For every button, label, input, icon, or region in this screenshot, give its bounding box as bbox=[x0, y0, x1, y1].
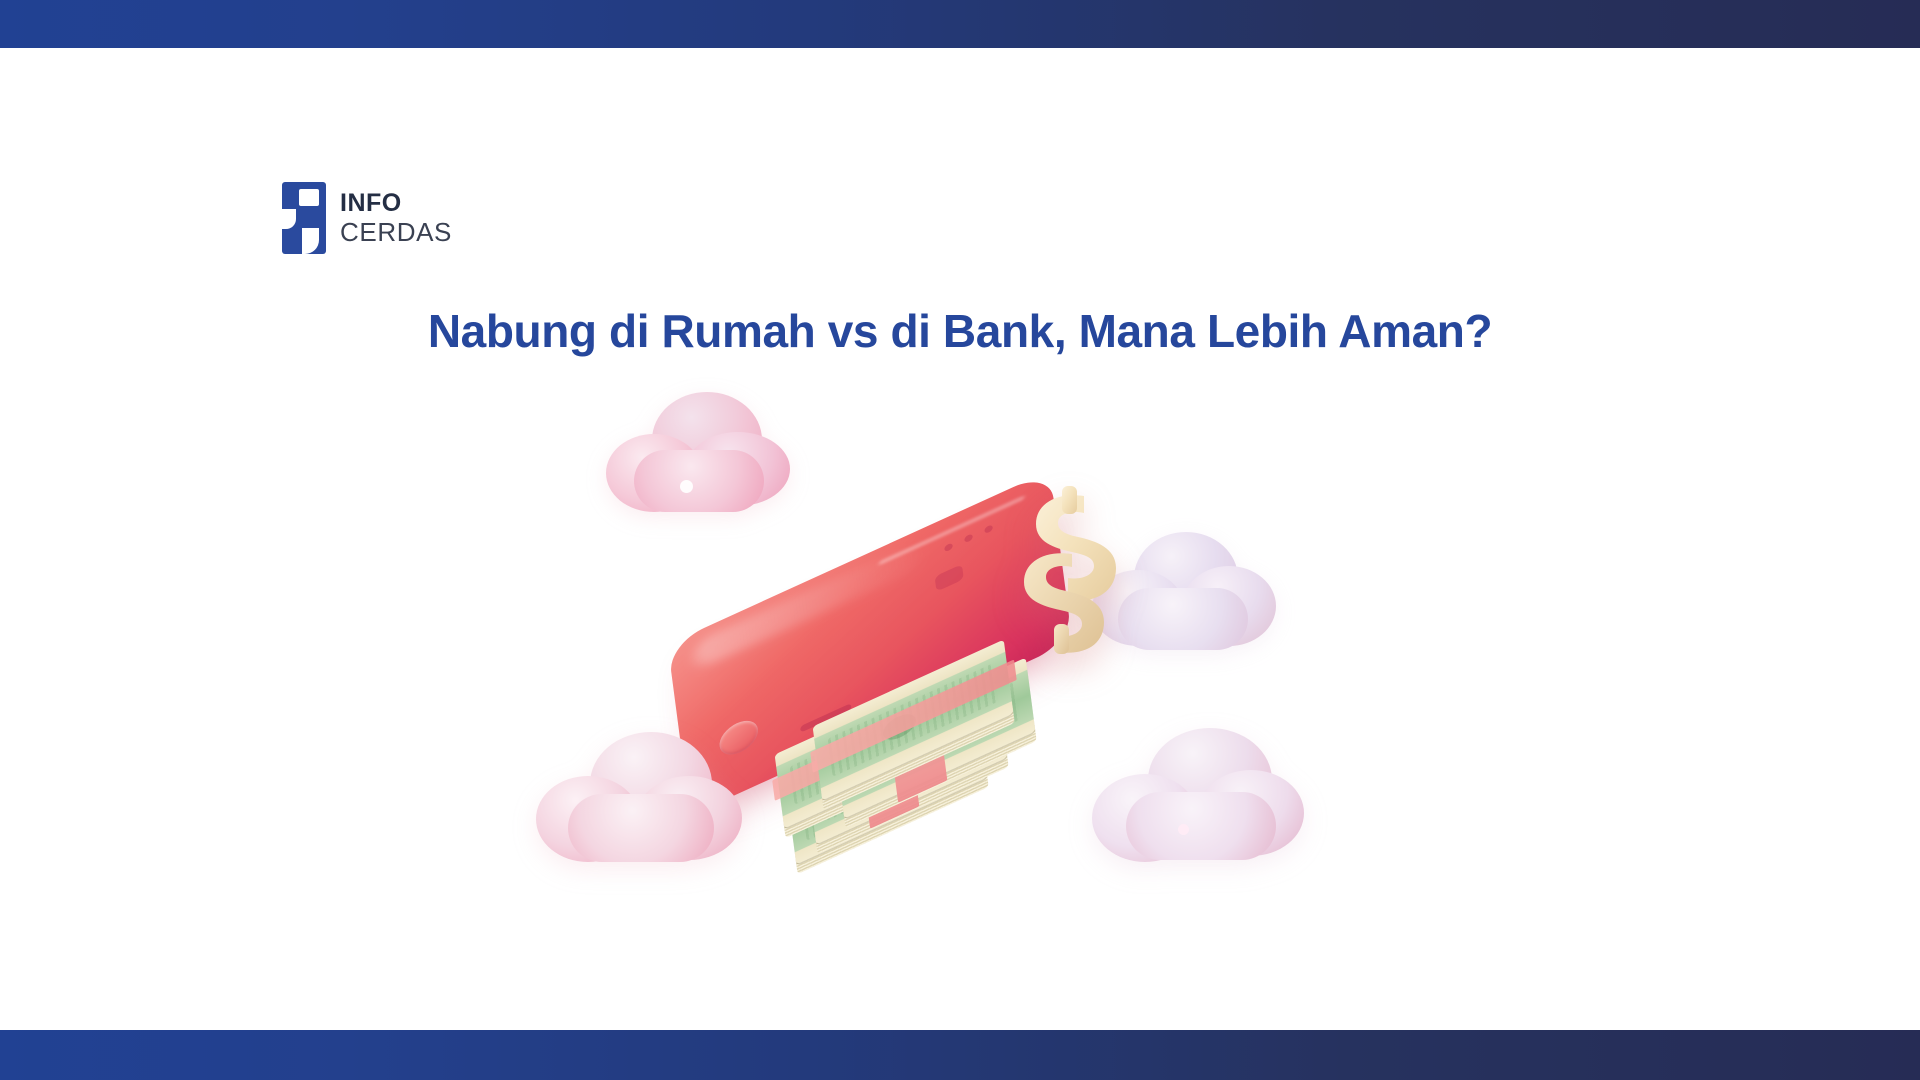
bottom-accent-bar bbox=[0, 1030, 1920, 1080]
logo-i-notch-shape bbox=[282, 209, 296, 229]
cloud-highlight-dot bbox=[1178, 824, 1189, 835]
slide-canvas: INFO CERDAS Nabung di Rumah vs di Bank, … bbox=[0, 0, 1920, 1080]
cloud-top-left-icon bbox=[600, 392, 800, 532]
top-accent-bar bbox=[0, 0, 1920, 48]
logo-mark-icon bbox=[282, 182, 326, 254]
logo-i-dot-shape bbox=[299, 189, 319, 206]
dollar-sign-icon bbox=[1018, 484, 1126, 660]
logo-wordmark: INFO CERDAS bbox=[340, 191, 452, 245]
logo-text-cerdas: CERDAS bbox=[340, 219, 452, 245]
logo-text-info: INFO bbox=[340, 191, 452, 216]
cloud-bottom-left-icon bbox=[532, 732, 748, 880]
page-title: Nabung di Rumah vs di Bank, Mana Lebih A… bbox=[0, 304, 1920, 358]
logo-i-foot-shape bbox=[302, 228, 319, 254]
cloud-highlight-dot bbox=[680, 480, 693, 493]
cloud-bottom-right-icon bbox=[1092, 728, 1308, 878]
hero-illustration bbox=[620, 400, 1340, 940]
brand-logo: INFO CERDAS bbox=[282, 182, 452, 254]
cash-stack bbox=[768, 666, 1088, 876]
